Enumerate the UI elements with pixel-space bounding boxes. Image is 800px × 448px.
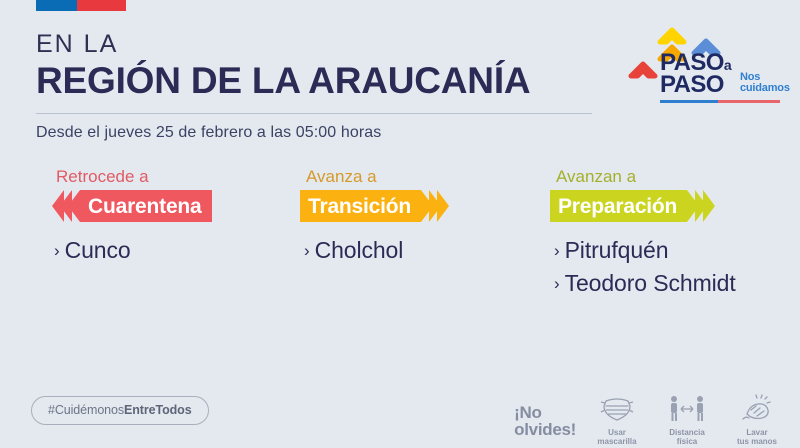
city-name: Cunco	[65, 237, 131, 263]
list-item: ›Cholchol	[304, 234, 540, 267]
city-name: Teodoro Schmidt	[565, 270, 736, 296]
list-item: ›Pitrufquén	[554, 234, 795, 267]
paso-a-paso-logo: PASOa PASO Nos cuidamos	[626, 8, 786, 108]
phase-banner-bar: Transición	[300, 190, 421, 222]
city-list: ›Cholchol	[304, 234, 540, 267]
banner-chevrons-forward-icon	[687, 190, 715, 222]
no-olvides-line-2: olvides!	[514, 421, 576, 438]
chile-flag-bar	[36, 0, 126, 11]
reminder-caption: Lavar tus manos	[728, 428, 786, 447]
phase-banner-transicion: Transición	[300, 190, 540, 222]
logo-wordmark: PASOa PASO	[660, 52, 731, 96]
effective-date-text: Desde el jueves 25 de febrero a las 05:0…	[36, 124, 596, 142]
caret-icon: ›	[554, 241, 560, 260]
logo-tagline-line-2: cuidamos	[740, 83, 790, 94]
page-title: REGIÓN DE LA ARAUCANÍA	[36, 61, 596, 101]
header-divider	[36, 113, 592, 114]
logo-flag-underline	[660, 100, 780, 103]
reminder-wash-hands: Lavar tus manos	[728, 392, 786, 447]
phase-column-preparacion: Avanzan a Preparación ›Pitrufquén ›Teodo…	[550, 168, 795, 299]
logo-tagline: Nos cuidamos	[740, 72, 790, 94]
no-olvides-line-1: ¡No	[514, 404, 576, 421]
reminder-caption: Usar mascarilla	[588, 428, 646, 447]
logo-word-line-2: PASO	[660, 74, 731, 96]
list-item: ›Cunco	[54, 234, 290, 267]
list-item: ›Teodoro Schmidt	[554, 267, 795, 300]
phase-name: Transición	[308, 196, 411, 217]
phase-banner-preparacion: Preparación	[550, 190, 795, 222]
phase-banner-cuarentena: Cuarentena	[50, 190, 290, 222]
wash-hands-icon	[728, 392, 786, 426]
city-list: ›Cunco	[54, 234, 290, 267]
phase-name: Cuarentena	[88, 196, 202, 217]
banner-chevrons-backward-icon	[50, 190, 80, 222]
logo-word-a: a	[724, 57, 731, 73]
phase-columns: Retrocede a Cuarentena ›Cunco Avanza a	[0, 168, 800, 299]
caret-icon: ›	[554, 274, 560, 293]
hashtag-bold-part: EntreTodos	[124, 403, 192, 417]
phase-name: Preparación	[558, 196, 677, 217]
logo-flag-blue	[660, 100, 718, 103]
phase-kicker: Avanzan a	[556, 168, 795, 185]
phase-kicker: Retrocede a	[56, 168, 290, 185]
city-name: Cholchol	[315, 237, 404, 263]
flag-red-segment	[77, 0, 127, 11]
paso-a-paso-poster: EN LA REGIÓN DE LA ARAUCANÍA Desde el ju…	[0, 0, 800, 448]
caret-icon: ›	[54, 241, 60, 260]
reminder-mask: Usar mascarilla	[588, 392, 646, 447]
phase-banner-bar: Cuarentena	[80, 190, 212, 222]
caret-icon: ›	[304, 241, 310, 260]
reminder-caption: Distancia física	[658, 428, 716, 447]
city-list: ›Pitrufquén ›Teodoro Schmidt	[554, 234, 795, 299]
phase-banner-bar: Preparación	[550, 190, 687, 222]
phase-column-cuarentena: Retrocede a Cuarentena ›Cunco	[50, 168, 290, 299]
phase-kicker: Avanza a	[306, 168, 540, 185]
banner-chevrons-forward-icon	[421, 190, 449, 222]
face-mask-icon	[588, 392, 646, 426]
physical-distance-icon	[658, 392, 716, 426]
reminder-distance: Distancia física	[658, 392, 716, 447]
city-name: Pitrufquén	[565, 237, 669, 263]
phase-column-transicion: Avanza a Transición ›Cholchol	[300, 168, 540, 299]
logo-word-paso-2: PASO	[660, 71, 724, 98]
no-olvides-label: ¡No olvides!	[514, 392, 576, 439]
logo-flag-red	[718, 100, 780, 103]
header-kicker: EN LA	[36, 32, 596, 57]
hashtag-badge: #CuidémonosEntreTodos	[31, 396, 209, 425]
flag-blue-segment	[36, 0, 77, 11]
header-block: EN LA REGIÓN DE LA ARAUCANÍA Desde el ju…	[36, 32, 596, 142]
hashtag-light-part: #Cuidémonos	[48, 403, 124, 417]
reminder-block: ¡No olvides! Usar mascarilla	[514, 392, 786, 447]
